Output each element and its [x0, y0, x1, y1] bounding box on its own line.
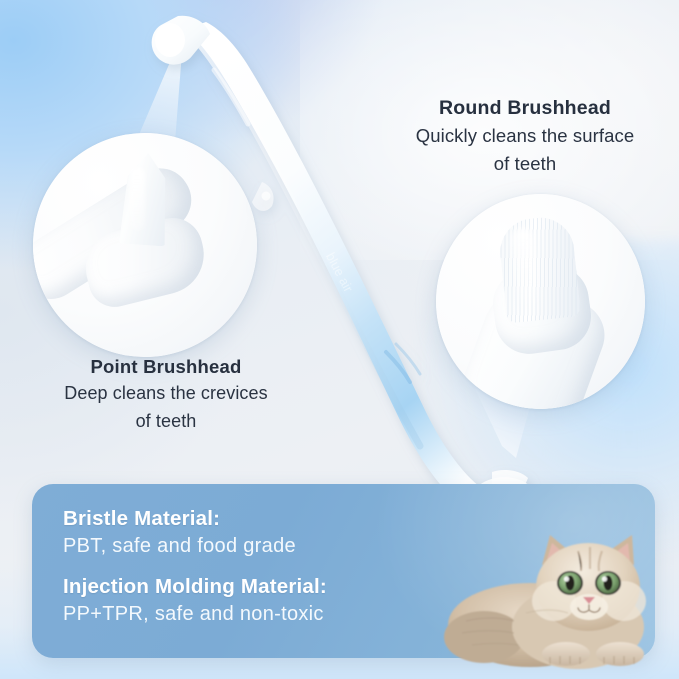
- spec-value-bristle-material: PBT, safe and food grade: [63, 532, 327, 560]
- spec-panel-text: Bristle Material: PBT, safe and food gra…: [63, 506, 327, 628]
- callout-point-brushhead: Point Brushhead Deep cleans the crevices…: [6, 355, 326, 434]
- callout-round-brushhead: Round Brushhead Quickly cleans the surfa…: [385, 96, 665, 176]
- spec-row-bristle-material: Bristle Material: PBT, safe and food gra…: [63, 506, 327, 560]
- cat-left-paw: [542, 642, 590, 666]
- callout-round-title: Round Brushhead: [385, 96, 665, 120]
- spec-label-injection-molding-material: Injection Molding Material:: [63, 574, 327, 600]
- round-brushhead-magnifier: [436, 194, 645, 409]
- infographic-canvas: blue air Round Brushhead Quickly cleans …: [0, 0, 679, 679]
- spec-value-injection-molding-material: PP+TPR, safe and non-toxic: [63, 600, 327, 628]
- british-shorthair-cat: [438, 521, 676, 671]
- callout-point-desc-line2: of teeth: [6, 409, 326, 434]
- callout-point-desc-line1: Deep cleans the crevices: [6, 381, 326, 406]
- spec-row-injection-molding-material: Injection Molding Material: PP+TPR, safe…: [63, 574, 327, 628]
- point-brush-tip-highlight: [129, 167, 145, 231]
- callout-point-title: Point Brushhead: [6, 355, 326, 378]
- cat-right-paw: [596, 642, 644, 666]
- callout-round-desc-line2: of teeth: [385, 151, 665, 176]
- spec-label-bristle-material: Bristle Material:: [63, 506, 327, 532]
- point-brushhead-magnifier: [33, 133, 257, 357]
- callout-round-desc-line1: Quickly cleans the surface: [385, 123, 665, 148]
